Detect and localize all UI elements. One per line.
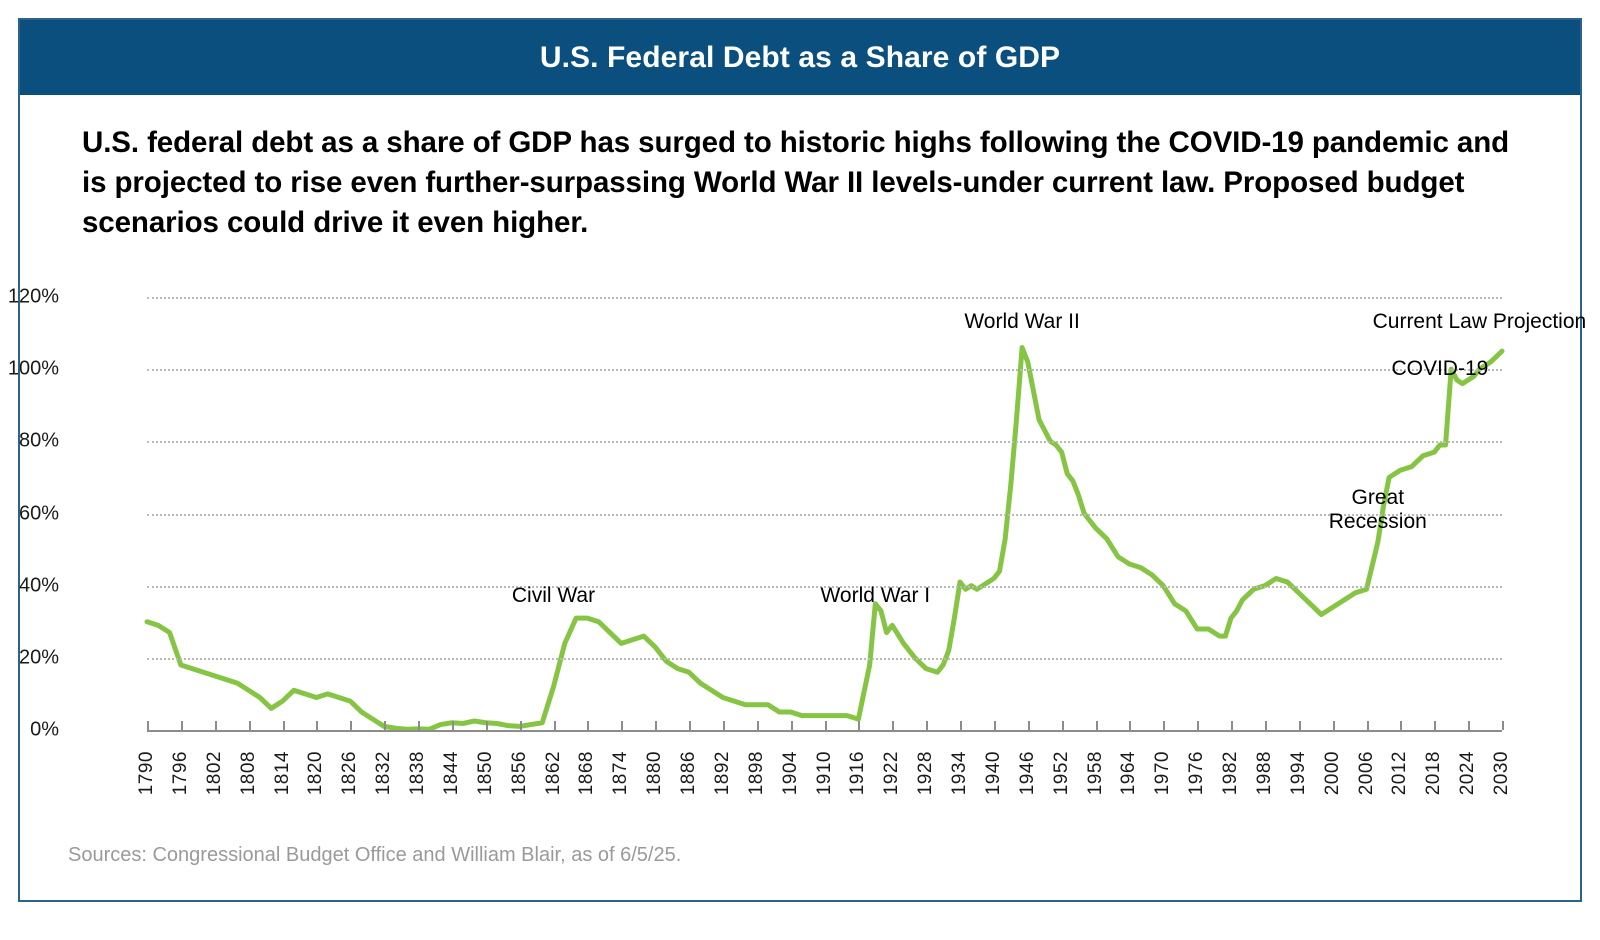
x-axis-label: 1970 [1152,751,1174,795]
x-axis-tick [1129,721,1131,730]
gridline-120 [147,297,1502,299]
x-axis-label: 1958 [1085,751,1107,795]
x-axis-tick [723,721,725,730]
x-axis-label: 1952 [1051,751,1073,795]
x-axis-tick [1502,721,1504,730]
x-axis-label: 2006 [1356,751,1378,795]
x-axis-tick [791,721,793,730]
x-axis-label: 2030 [1491,751,1513,795]
x-axis-tick [994,721,996,730]
x-axis-tick [181,721,183,730]
x-axis-label: 1994 [1288,751,1310,795]
x-axis-tick [147,721,149,730]
x-axis-tick [384,721,386,730]
annotation-world-war-ii: World War II [964,310,1080,334]
x-axis-tick [1265,721,1267,730]
x-axis-label: 2012 [1389,751,1411,795]
debt-line [147,348,1502,730]
x-axis-tick [1028,721,1030,730]
annotation-great-recession: Great Recession [1323,486,1433,534]
y-axis-label: 0% [30,719,59,742]
y-axis-label: 100% [8,358,59,381]
x-axis-label: 1796 [170,751,192,795]
chart-card: U.S. Federal Debt as a Share of GDP U.S.… [18,18,1582,902]
x-axis-tick [1299,721,1301,730]
x-axis-tick [1333,721,1335,730]
x-axis-label: 2000 [1322,751,1344,795]
x-axis-label: 1802 [204,751,226,795]
chart-container: 0%20%40%60%80%100%120%179017961802180818… [20,275,1580,835]
x-axis-label: 1976 [1186,751,1208,795]
x-axis-tick [926,721,928,730]
x-axis-tick [486,721,488,730]
x-axis-tick [1197,721,1199,730]
x-axis-tick [418,721,420,730]
x-axis-tick [655,721,657,730]
x-axis-tick [1468,721,1470,730]
gridline-100 [147,369,1502,371]
y-axis-label: 40% [19,574,59,597]
x-axis-line [147,730,1502,732]
x-axis-label: 1856 [509,751,531,795]
x-axis-label: 1964 [1118,751,1140,795]
x-axis-label: 1934 [949,751,971,795]
x-axis-label: 1940 [983,751,1005,795]
y-axis-label: 60% [19,502,59,525]
x-axis-label: 1988 [1254,751,1276,795]
sources-note: Sources: Congressional Budget Office and… [68,844,681,867]
x-axis-tick [1163,721,1165,730]
y-axis-label: 20% [19,646,59,669]
x-axis-label: 1892 [712,751,734,795]
x-axis-label: 1820 [305,751,327,795]
x-axis-label: 1898 [746,751,768,795]
x-axis-label: 2024 [1457,751,1479,795]
x-axis-tick [621,721,623,730]
x-axis-label: 1808 [238,751,260,795]
x-axis-label: 1844 [441,751,463,795]
infographic-root: U.S. Federal Debt as a Share of GDP U.S.… [0,0,1600,940]
x-axis-tick [452,721,454,730]
x-axis-label: 1886 [678,751,700,795]
x-axis-tick [215,721,217,730]
gridline-80 [147,441,1502,443]
x-axis-tick [520,721,522,730]
x-axis-label: 1880 [644,751,666,795]
x-axis-tick [960,721,962,730]
x-axis-tick [1231,721,1233,730]
x-axis-label: 1922 [881,751,903,795]
x-axis-tick [757,721,759,730]
x-axis-tick [1096,721,1098,730]
gridline-60 [147,514,1502,516]
x-axis-tick [283,721,285,730]
page-title: U.S. Federal Debt as a Share of GDP [540,41,1060,75]
x-axis-tick [689,721,691,730]
annotation-current-law-projection: Current Law Projection [1373,310,1587,334]
subtitle-text: U.S. federal debt as a share of GDP has … [82,123,1537,243]
x-axis-tick [1400,721,1402,730]
x-axis-tick [316,721,318,730]
y-axis-label: 80% [19,430,59,453]
y-axis-label: 120% [8,286,59,309]
title-bar: U.S. Federal Debt as a Share of GDP [20,20,1580,95]
x-axis-tick [1062,721,1064,730]
x-axis-label: 1910 [814,751,836,795]
x-axis-tick [825,721,827,730]
x-axis-label: 1832 [373,751,395,795]
annotation-civil-war: Civil War [512,584,595,608]
x-axis-label: 1850 [475,751,497,795]
x-axis-label: 2018 [1423,751,1445,795]
x-axis-label: 1928 [915,751,937,795]
x-axis-label: 1868 [576,751,598,795]
x-axis-label: 1826 [339,751,361,795]
x-axis-label: 1814 [272,751,294,795]
x-axis-tick [858,721,860,730]
x-axis-label: 1982 [1220,751,1242,795]
gridline-20 [147,658,1502,660]
x-axis-tick [892,721,894,730]
x-axis-label: 1874 [610,751,632,795]
x-axis-tick [1367,721,1369,730]
x-axis-label: 1916 [847,751,869,795]
x-axis-tick [350,721,352,730]
x-axis-label: 1946 [1017,751,1039,795]
annotation-world-war-i: World War I [820,584,930,608]
x-axis-label: 1862 [543,751,565,795]
x-axis-label: 1790 [136,751,158,795]
x-axis-label: 1838 [407,751,429,795]
x-axis-tick [249,721,251,730]
x-axis-tick [587,721,589,730]
x-axis-tick [554,721,556,730]
plot-area: 0%20%40%60%80%100%120%179017961802180818… [147,297,1502,730]
x-axis-tick [1434,721,1436,730]
x-axis-label: 1904 [780,751,802,795]
annotation-covid-19: COVID-19 [1391,357,1488,381]
